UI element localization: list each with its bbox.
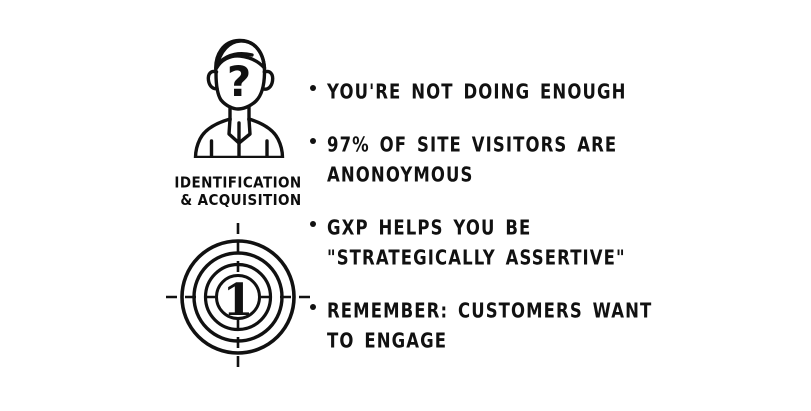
person-with-question-mark-icon: ? [180, 28, 298, 158]
bullet-list: You're NOT Doing Enough 97% of site visi… [305, 74, 705, 353]
icon-caption-line-2: & ACQUISITION [158, 192, 318, 209]
icon-caption-line-1: IDENTIFICATION [158, 175, 318, 192]
bullet-text-line: anonoymous [327, 157, 705, 194]
svg-text:?: ? [227, 57, 251, 106]
list-item: 97% of site visitors are anonoymous [305, 127, 705, 187]
bullet-text-line: You're NOT Doing Enough [327, 74, 705, 111]
list-item: You're NOT Doing Enough [305, 74, 705, 104]
icon-caption: IDENTIFICATION & ACQUISITION [158, 175, 318, 210]
bullet-dot-icon [310, 138, 316, 144]
list-item: GXP helps you be "strategically assertiv… [305, 210, 705, 270]
icon-column: ? IDENTIFICATION & ACQUISITION [158, 28, 318, 373]
bullet-dot-icon [310, 85, 316, 91]
bullet-text-line: to engage [327, 323, 705, 360]
bullseye-target-icon: 1 [165, 220, 311, 373]
bullet-dot-icon [310, 304, 316, 310]
bullet-text-line: "strategically assertive" [327, 240, 705, 277]
slide-canvas: ? IDENTIFICATION & ACQUISITION [0, 0, 811, 411]
list-item: Remember: customers WANT to engage [305, 293, 705, 353]
target-center-label: 1 [223, 275, 254, 326]
bullet-dot-icon [310, 221, 316, 227]
